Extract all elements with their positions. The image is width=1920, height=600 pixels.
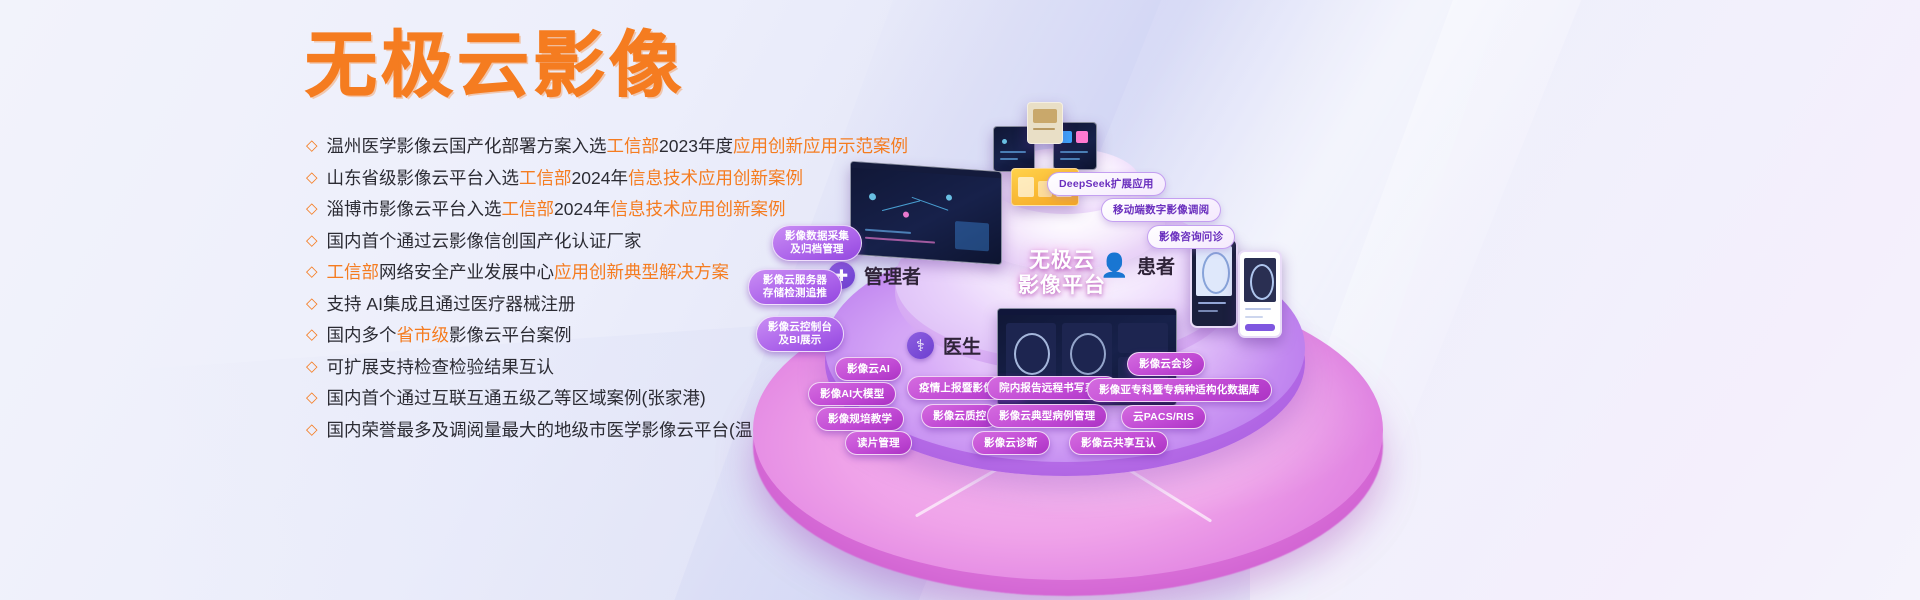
- bullet-text: 国内多个省市级影像云平台案例: [327, 320, 572, 352]
- bullet-segment: 工信部: [519, 168, 572, 188]
- role-doctor-label: 医生: [943, 332, 981, 359]
- bullet-text: 可扩展支持检查检验结果互认: [327, 352, 555, 384]
- bullet-segment: 国内首个通过云影像信创国产化认证厂家: [327, 231, 642, 251]
- diamond-bullet-icon: ◇: [306, 351, 318, 383]
- dashboard-screen-left: [850, 161, 1002, 266]
- diamond-bullet-icon: ◇: [306, 414, 318, 446]
- patient-phone-2: [1238, 250, 1282, 338]
- bullet-text: 工信部网络安全产业发展中心应用创新典型解决方案: [327, 257, 730, 289]
- bullet-segment: 支持 AI集成且通过医疗器械注册: [327, 294, 576, 314]
- chip-server-storage[interactable]: 影像云服务器存储检测追推: [748, 269, 842, 305]
- chip-pacs-ris[interactable]: 云PACS/RIS: [1121, 405, 1206, 429]
- bullet-text: 山东省级影像云平台入选工信部2024年信息技术应用创新案例: [327, 163, 803, 195]
- bullet-segment: 国内多个: [327, 325, 397, 345]
- diamond-bullet-icon: ◇: [306, 288, 318, 320]
- bullet-segment: 工信部: [327, 262, 380, 282]
- bullet-text: 淄博市影像云平台入选工信部2024年信息技术应用创新案例: [327, 194, 786, 226]
- bullet-text: 支持 AI集成且通过医疗器械注册: [327, 289, 576, 321]
- bullet-segment: 温州医学影像云国产化部署方案入选: [327, 136, 607, 156]
- diamond-bullet-icon: ◇: [306, 162, 318, 194]
- bullet-segment: 网络安全产业发展中心: [379, 262, 554, 282]
- bullet-segment: 工信部: [502, 199, 555, 219]
- bullet-segment: 工信部: [607, 136, 660, 156]
- chip-data-archive[interactable]: 影像数据采集及归档管理: [772, 225, 862, 261]
- core-screen-center: [1027, 102, 1063, 144]
- patient-phone-1: [1190, 238, 1238, 328]
- chip-ai-model[interactable]: 影像AI大模型: [808, 382, 896, 406]
- bullet-segment: 应用创新典型解决方案: [554, 262, 729, 282]
- chip-share-mutual[interactable]: 影像云共享互认: [1069, 431, 1168, 455]
- role-doctor[interactable]: ⚕ 医生: [907, 332, 981, 359]
- platform-diagram: 无极云 影像平台 ✚ 管理者 ⚕ 医生 👤 患者 DeepSeek扩展应用 移动…: [735, 120, 1920, 600]
- chip-cloud-diagnosis[interactable]: 影像云诊断: [972, 431, 1050, 455]
- diamond-bullet-icon: ◇: [306, 319, 318, 351]
- bullet-segment: 省市级: [397, 325, 450, 345]
- bullet-segment: 2024年: [572, 168, 628, 188]
- banner-root: 无极云影像 ◇温州医学影像云国产化部署方案入选工信部2023年度应用创新应用示范…: [0, 0, 1920, 600]
- chip-mobile-view[interactable]: 移动端数字影像调阅: [1101, 198, 1221, 222]
- diamond-bullet-icon: ◇: [306, 130, 318, 162]
- doctor-icon: ⚕: [907, 332, 934, 359]
- bullet-segment: 淄博市影像云平台入选: [327, 199, 502, 219]
- chip-subspecialty-db[interactable]: 影像亚专科暨专病种适构化数据库: [1087, 378, 1272, 402]
- diamond-bullet-icon: ◇: [306, 193, 318, 225]
- diamond-bullet-icon: ◇: [306, 382, 318, 414]
- role-patient-label: 患者: [1137, 252, 1175, 279]
- chip-deepseek[interactable]: DeepSeek扩展应用: [1047, 172, 1166, 196]
- bullet-segment: 影像云平台案例: [449, 325, 572, 345]
- chip-reading-mgmt[interactable]: 读片管理: [845, 431, 912, 455]
- bullet-segment: 山东省级影像云平台入选: [327, 168, 520, 188]
- chip-training[interactable]: 影像规培教学: [816, 407, 904, 431]
- person-icon: 👤: [1101, 252, 1128, 279]
- bullet-text: 国内荣誉最多及调阅量最大的地级市医学影像云平台(温州): [327, 415, 776, 447]
- chip-case-mgmt[interactable]: 影像云典型病例管理: [987, 404, 1107, 428]
- chip-consult[interactable]: 影像咨询问诊: [1147, 225, 1235, 249]
- bullet-segment: 国内首个通过互联互通五级乙等区域案例(张家港): [327, 388, 706, 408]
- bullet-text: 国内首个通过云影像信创国产化认证厂家: [327, 226, 642, 258]
- bullet-segment: 2024年: [554, 199, 610, 219]
- bullet-text: 国内首个通过互联互通五级乙等区域案例(张家港): [327, 383, 706, 415]
- diamond-bullet-icon: ◇: [306, 256, 318, 288]
- chip-console-bi[interactable]: 影像云控制台及BI展示: [756, 316, 844, 352]
- diamond-bullet-icon: ◇: [306, 225, 318, 257]
- chip-cloud-consult[interactable]: 影像云会诊: [1127, 352, 1205, 376]
- bullet-segment: 可扩展支持检查检验结果互认: [327, 357, 555, 377]
- bullet-segment: 2023年度: [659, 136, 733, 156]
- role-patient[interactable]: 👤 患者: [1101, 252, 1175, 279]
- page-title: 无极云影像: [305, 24, 685, 106]
- bullet-segment: 国内荣誉最多及调阅量最大的地级市医学影像云平台(温州): [327, 420, 776, 440]
- role-admin-label: 管理者: [864, 262, 921, 289]
- chip-cloud-ai[interactable]: 影像云AI: [835, 357, 902, 381]
